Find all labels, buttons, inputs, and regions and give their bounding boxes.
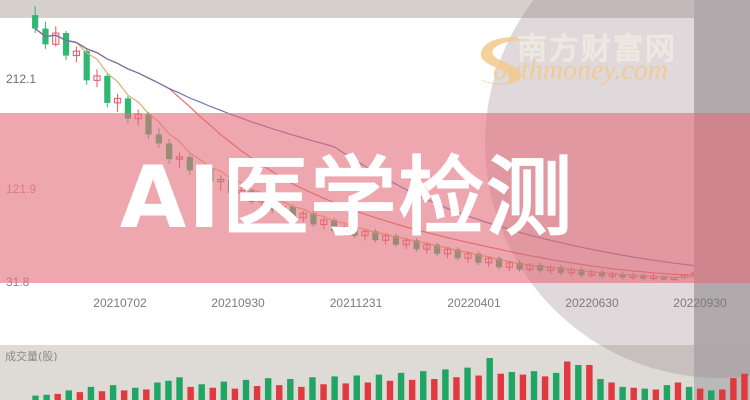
x-axis-tick-0: 20210702 [93,296,146,310]
headline-text: AI医学检测 [0,113,694,283]
x-axis-tick-2: 20211231 [330,296,383,310]
y-axis-tick-0: 212.1 [6,72,36,86]
volume-svg [0,355,750,400]
watermark-en-text: outhmoney.com [493,55,668,87]
chart-screenshot: 212.1 121.9 31.8 AI医学检测 20210702 2021093… [0,0,750,400]
x-axis-tick-4: 20220630 [565,296,618,310]
volume-plot [0,355,750,400]
x-axis-tick-5: 20220930 [673,296,726,310]
x-axis-tick-3: 20220401 [447,296,500,310]
x-axis-tick-1: 20210930 [211,296,264,310]
watermark: 南方财富网 outhmoney.com [465,22,690,94]
x-axis: 20210702 20210930 20211231 20220401 2022… [0,296,694,318]
